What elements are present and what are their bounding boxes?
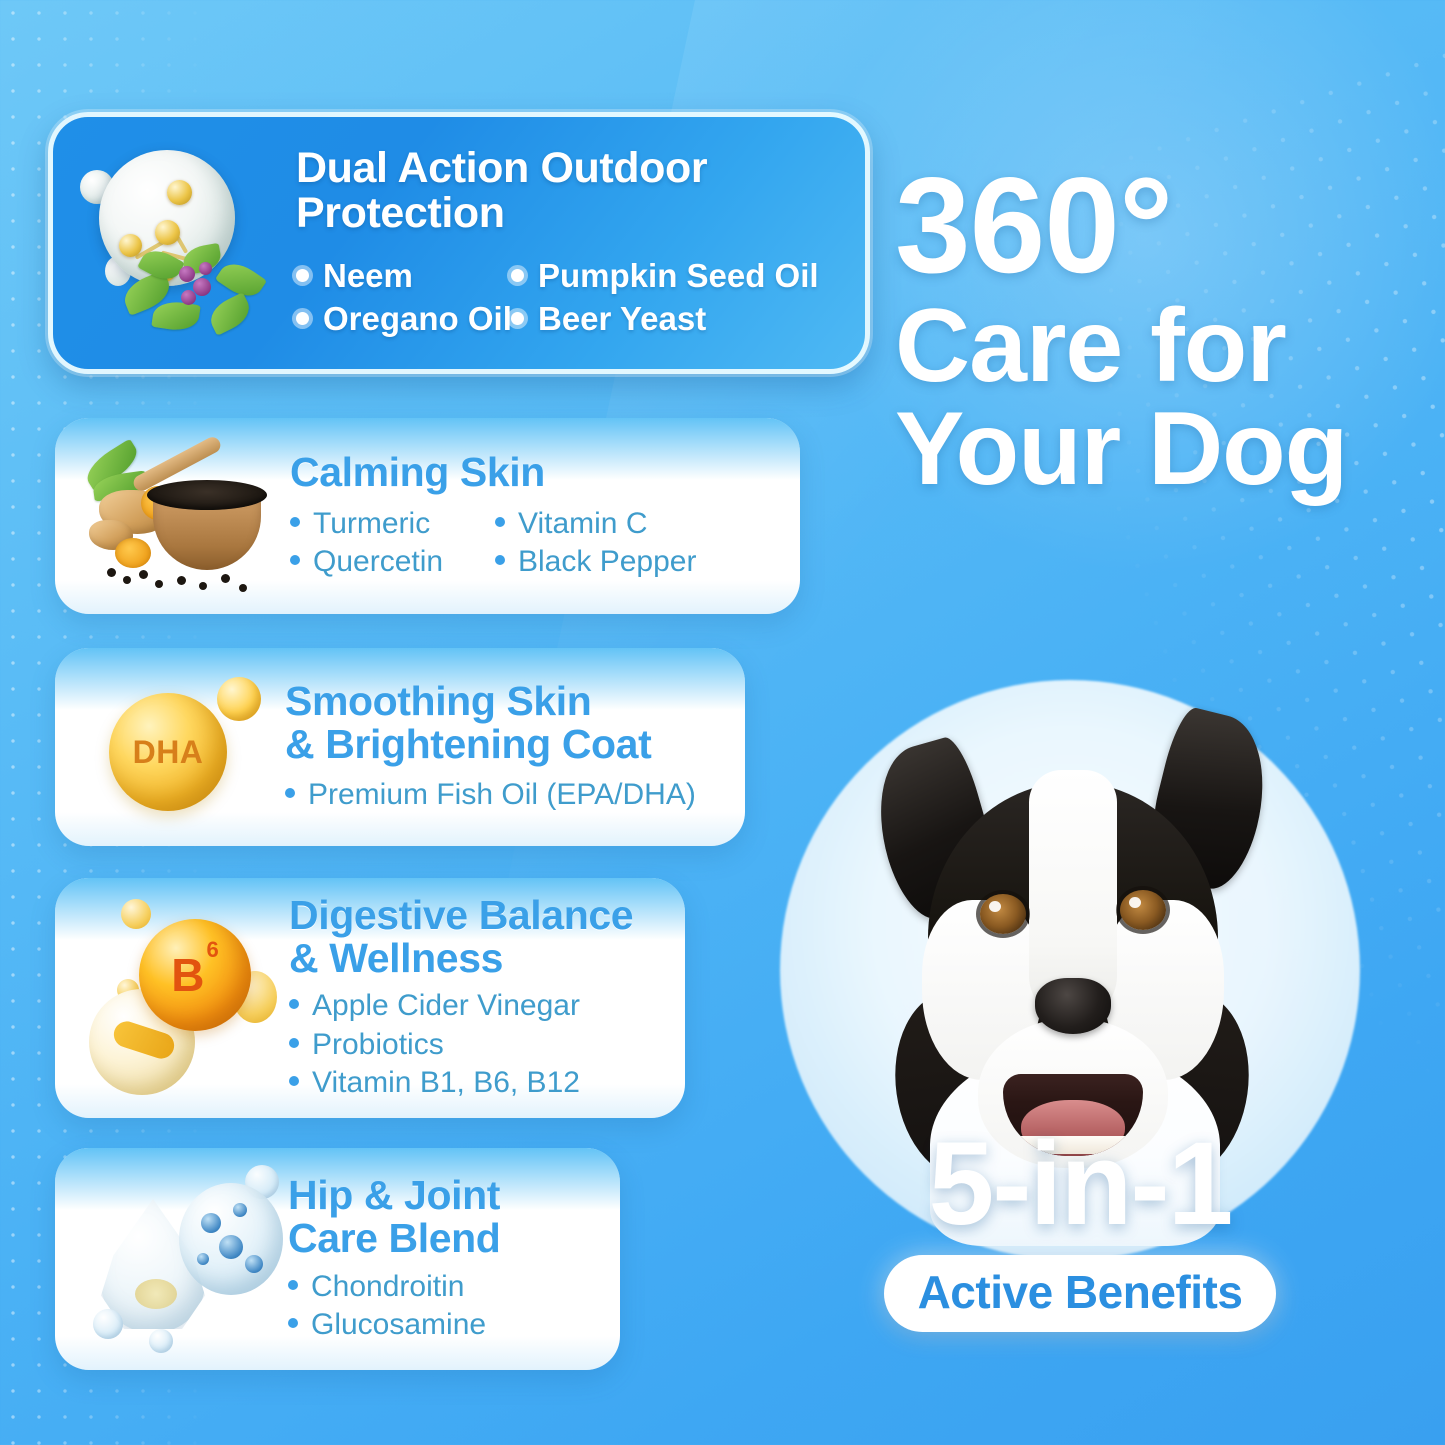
bullet-dot-icon — [495, 555, 505, 565]
card-title: Digestive Balance & Wellness — [289, 894, 667, 979]
bullet-dot-icon — [296, 312, 309, 325]
b6-icon-label: B — [171, 948, 204, 1002]
badge-count-label: 5-in-1 — [870, 1125, 1290, 1243]
list-item: Neem — [296, 255, 511, 298]
card-title: Dual Action Outdoor Protection — [296, 146, 843, 237]
dog-nose — [1035, 978, 1111, 1034]
droplet-molecule-icon — [61, 1159, 278, 1359]
bullet-dot-icon — [289, 999, 299, 1009]
bullet-dot-icon — [289, 1038, 299, 1048]
ingredient-list: Chondroitin Glucosamine — [288, 1268, 602, 1344]
bullet-dot-icon — [511, 269, 524, 282]
list-item: Probiotics — [289, 1026, 667, 1064]
bullet-dot-icon — [289, 1076, 299, 1086]
list-item: Pumpkin Seed Oil — [511, 255, 819, 298]
dog-head — [928, 782, 1218, 1082]
list-item: Black Pepper — [495, 543, 696, 581]
list-item: Premium Fish Oil (EPA/DHA) — [285, 776, 723, 814]
active-benefits-badge: 5-in-1 Active Benefits — [870, 1125, 1290, 1332]
benefit-card-smoothing-skin-brightening-coat[interactable]: DHA Smoothing Skin & Brightening Coat Pr… — [55, 648, 745, 846]
card-title: Smoothing Skin & Brightening Coat — [285, 680, 723, 765]
list-item: Quercetin — [290, 543, 495, 581]
card-title-line-1: Hip & Joint — [288, 1172, 500, 1218]
dog-illustration — [872, 690, 1272, 1160]
turmeric-black-pepper-icon — [63, 434, 276, 599]
headline-line-3: Your Dog — [895, 399, 1435, 500]
list-item: Beer Yeast — [511, 298, 706, 341]
list-item: Apple Cider Vinegar — [289, 987, 667, 1025]
list-item: Chondroitin — [288, 1268, 602, 1306]
ingredient-list: Neem Pumpkin Seed Oil Oregano Oil Beer Y… — [296, 255, 843, 341]
hero-headline: 360° Care for Your Dog — [895, 160, 1435, 500]
benefit-card-hip-joint-care-blend[interactable]: Hip & Joint Care Blend Chondroitin Gluco… — [55, 1148, 620, 1370]
bullet-dot-icon — [285, 788, 295, 798]
headline-line-2: Care for — [895, 296, 1435, 397]
capsule-herbs-icon — [67, 136, 290, 351]
benefit-card-digestive-balance-wellness[interactable]: B6 Digestive Balance & Wellness Apple Ci… — [55, 878, 685, 1118]
card-title-line-2: Care Blend — [288, 1215, 500, 1261]
bullet-dot-icon — [511, 312, 524, 325]
card-title-line-1: Digestive Balance — [289, 892, 633, 938]
list-item: Glucosamine — [288, 1306, 602, 1344]
list-item: Vitamin C — [495, 505, 648, 543]
list-item: Oregano Oil — [296, 298, 511, 341]
dog-eye-right — [1120, 890, 1166, 930]
bullet-dot-icon — [296, 269, 309, 282]
card-title-line-1: Smoothing Skin — [285, 678, 591, 724]
badge-pill-label: Active Benefits — [884, 1255, 1277, 1332]
card-title-line-2: & Wellness — [289, 935, 503, 981]
card-title: Hip & Joint Care Blend — [288, 1174, 602, 1259]
bullet-dot-icon — [288, 1280, 298, 1290]
card-title-line-2: & Brightening Coat — [285, 721, 651, 767]
bullet-dot-icon — [495, 517, 505, 527]
dha-icon-label: DHA — [133, 734, 204, 771]
bullet-dot-icon — [288, 1318, 298, 1328]
b6-icon-superscript: 6 — [206, 937, 218, 963]
dha-softgel-icon: DHA — [63, 667, 275, 827]
list-item: Vitamin B1, B6, B12 — [289, 1064, 667, 1102]
dog-eye-left — [980, 894, 1026, 934]
list-item: Turmeric — [290, 505, 495, 543]
benefit-card-calming-skin[interactable]: Calming Skin Turmeric Vitamin C Querceti… — [55, 418, 800, 614]
bullet-dot-icon — [290, 517, 300, 527]
card-title: Calming Skin — [290, 451, 778, 494]
ingredient-list: Turmeric Vitamin C Quercetin Black Peppe… — [290, 505, 778, 581]
ingredient-list: Apple Cider Vinegar Probiotics Vitamin B… — [289, 987, 667, 1101]
headline-line-1: 360° — [895, 160, 1435, 292]
benefit-card-dual-action-outdoor-protection[interactable]: Dual Action Outdoor Protection Neem Pump… — [48, 112, 870, 374]
vitamin-b6-droplet-icon: B6 — [61, 893, 281, 1103]
ingredient-list: Premium Fish Oil (EPA/DHA) — [285, 776, 723, 814]
bullet-dot-icon — [290, 555, 300, 565]
